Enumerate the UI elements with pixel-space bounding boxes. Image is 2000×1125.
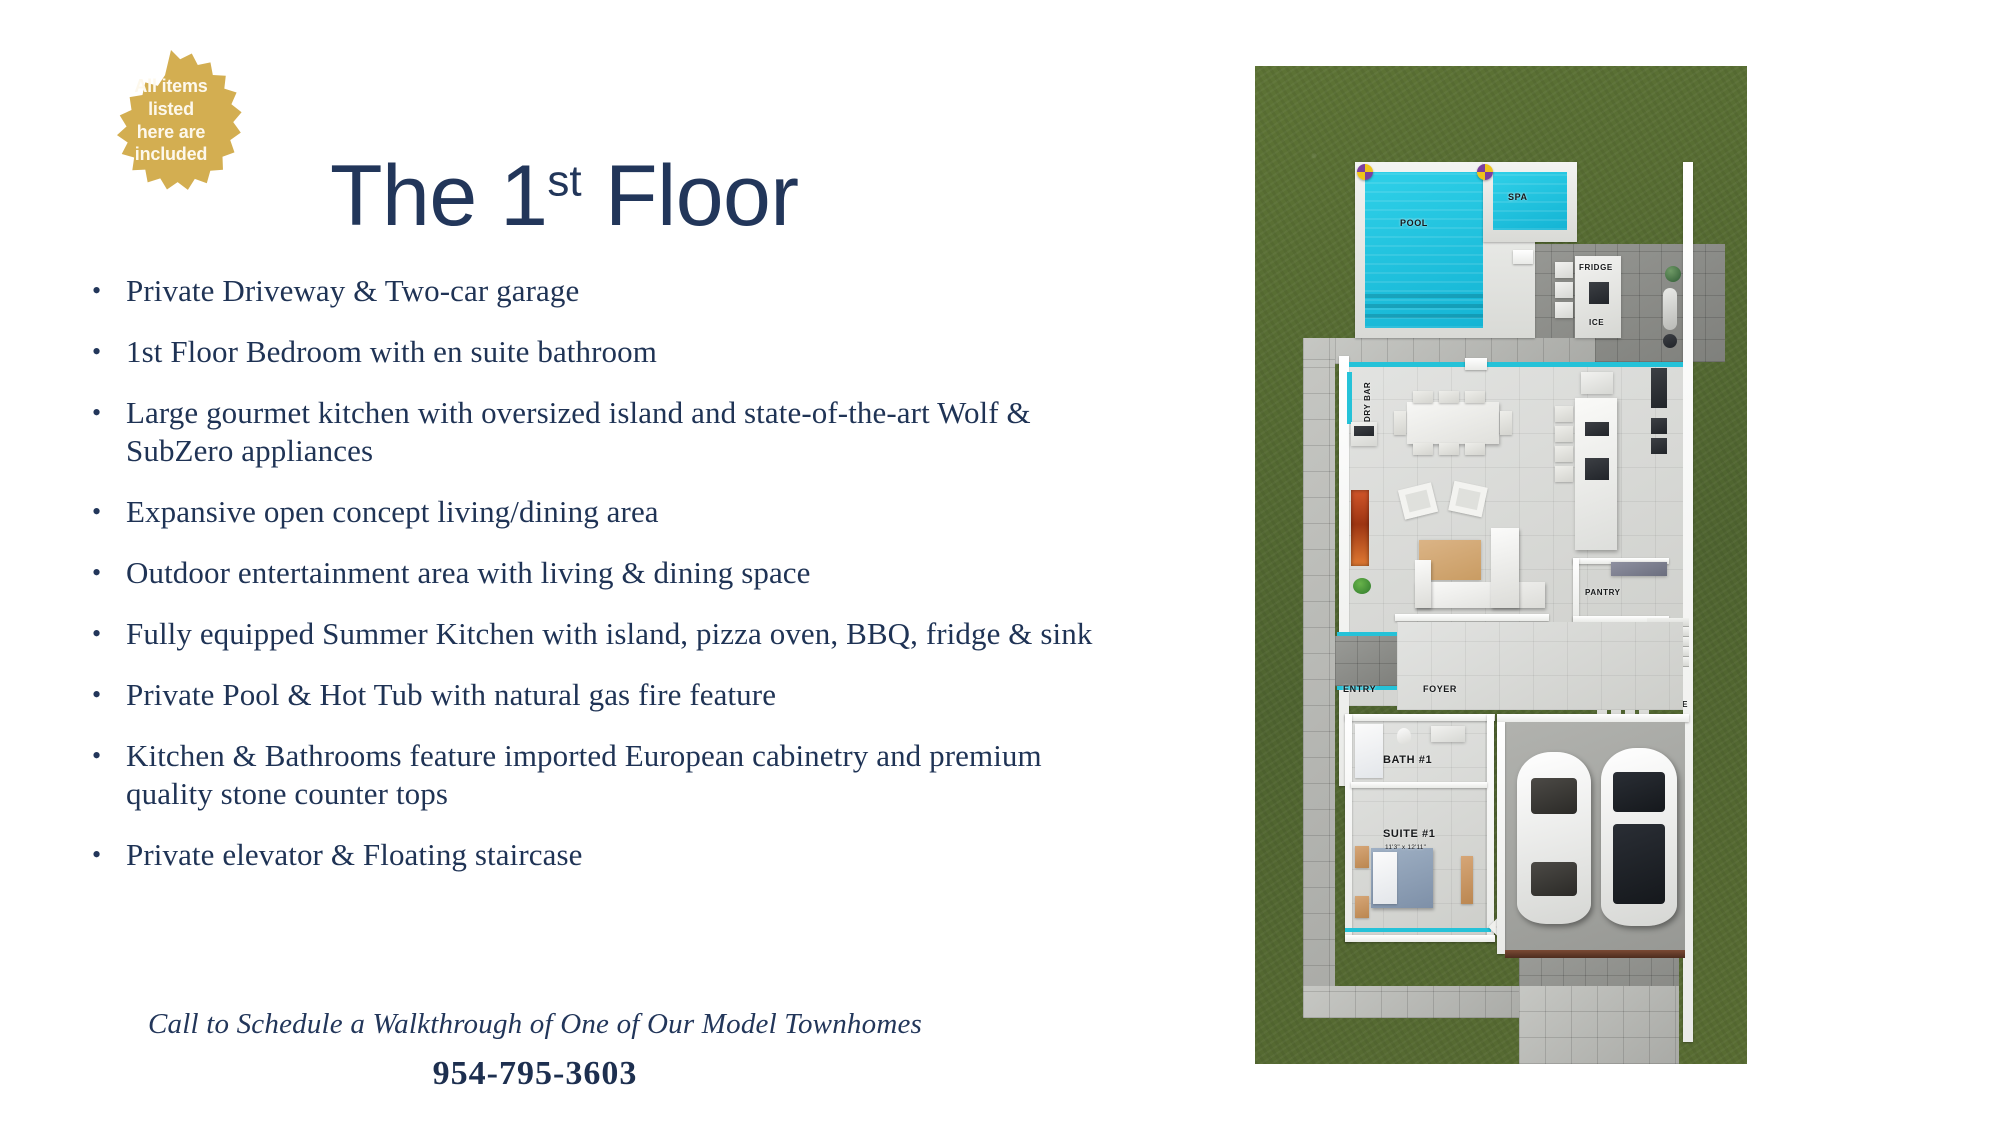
feature-text: 1st Floor Bedroom with en suite bathroom — [126, 333, 1096, 371]
garage-wall-left — [1497, 722, 1505, 954]
dining-chair-8 — [1500, 411, 1512, 435]
feature-text: Private Pool & Hot Tub with natural gas … — [126, 676, 1096, 714]
dining-chair-2 — [1439, 391, 1459, 403]
suite-1-label: SUITE #1 — [1383, 828, 1436, 840]
badge-line-4: included — [135, 144, 207, 166]
page-title-suffix: Floor — [582, 148, 799, 244]
suite-wall-top — [1345, 714, 1495, 721]
badge-line-3: here are — [137, 122, 205, 144]
pantry-counter — [1611, 562, 1667, 576]
all-items-included-badge: All items listed here are included — [100, 50, 242, 192]
summer-kitchen-stool-2 — [1555, 282, 1573, 298]
bathtub — [1355, 724, 1383, 778]
car-right-body-panel — [1613, 824, 1665, 904]
dining-chair-4 — [1413, 443, 1433, 455]
living-partition-wall — [1395, 614, 1549, 621]
car-right-windshield — [1613, 772, 1665, 812]
outdoor-sink — [1663, 288, 1677, 330]
rear-glass-wall — [1349, 362, 1683, 367]
badge-text-stack: All items listed here are included — [100, 50, 242, 192]
dining-chair-3 — [1465, 391, 1485, 403]
bath-partition-wall — [1351, 782, 1487, 788]
feature-text: Private Driveway & Two-car garage — [126, 272, 1096, 310]
list-item: • Kitchen & Bathrooms feature imported E… — [86, 737, 1096, 813]
summer-kitchen-grill — [1589, 282, 1609, 304]
island-stool-4 — [1555, 466, 1573, 482]
kitchen-cooktop — [1585, 422, 1609, 436]
side-walkway-paver — [1303, 338, 1335, 1018]
dresser — [1461, 856, 1473, 904]
call-to-action-text: Call to Schedule a Walkthrough of One of… — [100, 1008, 970, 1041]
suite-1-dimensions: 11'3" x 12'11" — [1385, 844, 1426, 851]
phone-number-link[interactable]: 954-795-3603 — [100, 1055, 970, 1093]
garage-wall-top — [1497, 714, 1689, 722]
suite-wall-left — [1345, 714, 1352, 942]
feature-text: Large gourmet kitchen with oversized isl… — [126, 394, 1096, 470]
badge-line-2: listed — [148, 99, 194, 121]
dry-bar-label: DRY BAR — [1363, 382, 1372, 422]
sectional-sofa-arm — [1491, 528, 1519, 608]
kitchen-upper-counter — [1581, 372, 1613, 394]
sectional-sofa-base — [1415, 582, 1545, 608]
bullet-icon: • — [86, 836, 126, 874]
dining-chair-6 — [1465, 443, 1485, 455]
bullet-icon: • — [86, 554, 126, 592]
kitchen-sink — [1585, 458, 1609, 480]
page-title-prefix: The 1 — [330, 148, 547, 244]
bullet-icon: • — [86, 676, 126, 714]
pool-label: POOL — [1400, 218, 1428, 228]
island-stool-3 — [1555, 446, 1573, 462]
suite-glass-slider — [1345, 928, 1491, 932]
list-item: • Expansive open concept living/dining a… — [86, 493, 1096, 531]
pizza-oven-icon — [1665, 266, 1681, 282]
pool-umbrella-icon-left — [1357, 164, 1373, 180]
feature-text: Fully equipped Summer Kitchen with islan… — [126, 615, 1096, 653]
nightstand-right — [1355, 896, 1369, 918]
island-stool-2 — [1555, 426, 1573, 442]
badge-line-1: All items — [134, 76, 207, 98]
pool-umbrella-icon-right — [1477, 164, 1493, 180]
page-title-ordinal: st — [547, 156, 581, 205]
spa-water — [1493, 172, 1567, 230]
bath-1-label: BATH #1 — [1383, 754, 1432, 766]
garage-door — [1505, 950, 1685, 958]
dining-chair-5 — [1439, 443, 1459, 455]
car-left-rear-window — [1531, 862, 1577, 896]
potted-plant-icon — [1353, 578, 1371, 594]
dry-bar-wine-fridge — [1354, 426, 1374, 436]
bullet-icon: • — [86, 333, 126, 371]
feature-text: Outdoor entertainment area with living &… — [126, 554, 1096, 592]
pantry-wall-left — [1573, 558, 1579, 622]
feature-list: • Private Driveway & Two-car garage • 1s… — [86, 272, 1096, 897]
subzero-fridge — [1651, 418, 1667, 434]
brochure-left-panel: All items listed here are included The 1… — [0, 0, 1200, 1125]
entry-label: ENTRY — [1343, 684, 1376, 694]
bullet-icon: • — [86, 272, 126, 310]
summer-kitchen-stool-3 — [1555, 302, 1573, 318]
wall-oven-stack — [1651, 368, 1667, 408]
bullet-icon: • — [86, 737, 126, 775]
feature-text: Expansive open concept living/dining are… — [126, 493, 1096, 531]
list-item: • Outdoor entertainment area with living… — [86, 554, 1096, 592]
list-item: • Private Pool & Hot Tub with natural ga… — [86, 676, 1096, 714]
nightstand-left — [1355, 846, 1369, 868]
list-item: • Fully equipped Summer Kitchen with isl… — [86, 615, 1096, 653]
bed-pillows — [1373, 852, 1397, 904]
list-item: • Large gourmet kitchen with oversized i… — [86, 394, 1096, 470]
dining-chair-1 — [1413, 391, 1433, 403]
bullet-icon: • — [86, 615, 126, 653]
entry-glass-top — [1337, 632, 1397, 636]
list-item: • Private elevator & Floating staircase — [86, 836, 1096, 874]
pool-step-line-1 — [1365, 294, 1483, 298]
spa-label: SPA — [1508, 192, 1528, 202]
foyer-label: FOYER — [1423, 684, 1457, 694]
list-item: • Private Driveway & Two-car garage — [86, 272, 1096, 310]
pool-step-line-2 — [1365, 304, 1483, 308]
wolf-microwave — [1651, 438, 1667, 454]
foyer-floor — [1397, 622, 1683, 710]
suite-wall-bottom — [1345, 935, 1495, 942]
feature-text: Kitchen & Bathrooms feature imported Eur… — [126, 737, 1096, 813]
page-title: The 1st Floor — [330, 153, 799, 239]
feature-text: Private elevator & Floating staircase — [126, 836, 1096, 874]
gas-fireplace — [1351, 490, 1369, 566]
sectional-sofa-end — [1415, 560, 1431, 608]
pantry-label: PANTRY — [1585, 588, 1621, 597]
fridge-label: FRIDGE — [1579, 263, 1613, 272]
entry-porch — [1335, 636, 1397, 686]
toilet — [1397, 728, 1411, 744]
dining-chair-7 — [1394, 411, 1406, 435]
outdoor-bbq — [1663, 334, 1677, 348]
summer-kitchen-divider — [1513, 250, 1533, 264]
driveway-pavers — [1519, 986, 1679, 1064]
summer-kitchen-stool-1 — [1555, 262, 1573, 278]
island-stool-1 — [1555, 406, 1573, 422]
floor-plan-image: POOL SPA FRIDGE ICE DRY BAR — [1255, 66, 1747, 1064]
suite-wall-right — [1487, 714, 1494, 942]
bullet-icon: • — [86, 493, 126, 531]
bullet-icon: • — [86, 394, 126, 432]
dining-table — [1407, 402, 1499, 444]
floor-plan-render: POOL SPA FRIDGE ICE DRY BAR — [1255, 66, 1747, 1064]
car-left-windshield — [1531, 778, 1577, 814]
bath-vanity — [1431, 726, 1465, 742]
dry-bar-glass — [1347, 372, 1352, 424]
front-walkway-paver — [1303, 986, 1533, 1018]
ice-label: ICE — [1589, 318, 1604, 327]
glass-wall-post — [1465, 358, 1487, 370]
list-item: • 1st Floor Bedroom with en suite bathro… — [86, 333, 1096, 371]
pool-step-line-3 — [1365, 314, 1483, 318]
